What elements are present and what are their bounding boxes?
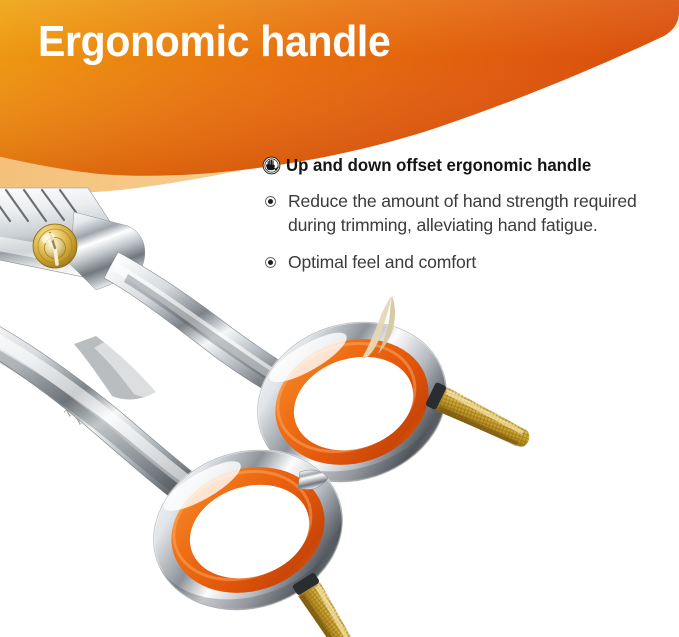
- list-item: Reduce the amount of hand strength requi…: [262, 189, 672, 237]
- feature-heading-row: Up and down offset ergonomic handle: [262, 154, 672, 176]
- hand-icon: [262, 156, 281, 175]
- banner-panel-sheen: [0, 0, 679, 176]
- feature-heading: Up and down offset ergonomic handle: [286, 154, 591, 176]
- list-item-text: Reduce the amount of hand strength requi…: [288, 191, 637, 235]
- bullet-icon: [265, 257, 276, 268]
- bullet-icon: [265, 196, 276, 207]
- page-title: Ergonomic handle: [38, 16, 466, 68]
- pivot-screw: [33, 224, 77, 268]
- list-item: Optimal feel and comfort: [262, 250, 672, 274]
- list-item-text: Optimal feel and comfort: [288, 252, 476, 272]
- feature-block: Up and down offset ergonomic handle Redu…: [262, 154, 672, 287]
- banner-panel: [0, 0, 679, 176]
- feature-bullet-list: Reduce the amount of hand strength requi…: [262, 189, 672, 274]
- lower-gold-tang: [292, 572, 370, 637]
